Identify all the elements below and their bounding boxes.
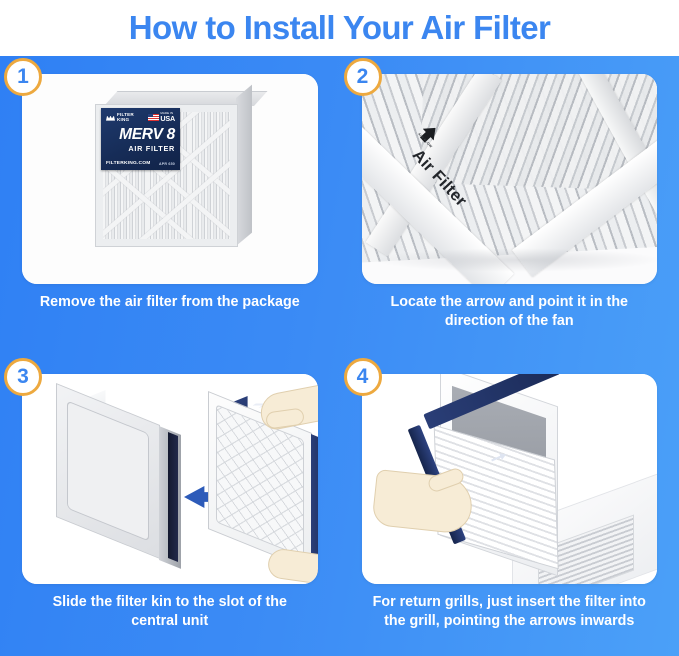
- step-1-card: FILTERKING MADE IN USA: [22, 74, 318, 284]
- filter-side-face: [236, 85, 252, 246]
- step-2-caption: Locate the arrow and point it in the dir…: [362, 293, 658, 331]
- us-flag-icon: [148, 114, 159, 121]
- steps-grid: 1: [0, 56, 679, 656]
- step-4: 4: [340, 356, 679, 656]
- drop-shadow: [372, 248, 658, 272]
- step-3: 3: [0, 356, 340, 656]
- made-in-usa-lockup: MADE IN USA: [148, 112, 175, 122]
- filter-product-label: FILTERKING MADE IN USA: [101, 108, 180, 170]
- title-band: How to Install Your Air Filter: [0, 0, 679, 56]
- filter-support-wire-vertical: [187, 112, 192, 239]
- filter-slot: [168, 432, 178, 562]
- step-4-badge: 4: [344, 358, 382, 396]
- step-2-image: AIR FLOW Air Filter: [362, 74, 658, 284]
- step-1-badge: 1: [4, 58, 42, 96]
- page-title: How to Install Your Air Filter: [129, 9, 550, 47]
- infographic-root: How to Install Your Air Filter 1: [0, 0, 679, 656]
- step-1: 1: [0, 56, 340, 356]
- brand-lockup: FILTERKING: [106, 112, 134, 122]
- label-header-row: FILTERKING MADE IN USA: [106, 112, 175, 122]
- step-2-badge: 2: [344, 58, 382, 96]
- product-type: AIR FILTER: [106, 144, 175, 153]
- brand-line-2: KING: [117, 117, 129, 122]
- central-unit-housing: [56, 390, 186, 555]
- brand-website: FILTERKING.COM: [106, 161, 151, 166]
- step-1-caption: Remove the air filter from the package: [22, 293, 318, 312]
- step-4-caption: For return grills, just insert the filte…: [362, 593, 658, 631]
- step-3-card: [22, 374, 318, 584]
- label-footer-row: FILTERKING.COM APR 650: [106, 161, 175, 166]
- step-3-image: [22, 374, 318, 584]
- step-1-image: FILTERKING MADE IN USA: [22, 74, 318, 284]
- merv-rating: MERV 8: [106, 127, 175, 143]
- made-in-usa-text: MADE IN USA: [160, 112, 175, 122]
- step-4-card: [362, 374, 658, 584]
- air-filter-product-photo: FILTERKING MADE IN USA: [90, 91, 263, 253]
- hand-lower: [266, 547, 317, 584]
- step-3-badge: 3: [4, 358, 42, 396]
- crown-icon: [106, 114, 115, 121]
- country-label: USA: [160, 115, 175, 122]
- step-2: 2 AIR FLOW Air Filter Locate the arrow a…: [340, 56, 679, 356]
- apr-rating: APR 650: [159, 162, 175, 166]
- step-3-caption: Slide the filter kin to the slot of the …: [22, 593, 318, 631]
- brand-name: FILTERKING: [117, 112, 134, 122]
- step-4-image: [362, 374, 658, 584]
- filter-mesh: [216, 404, 304, 558]
- unit-front-face: [56, 383, 160, 559]
- unit-inner-panel: [67, 400, 149, 541]
- step-2-card: AIR FLOW Air Filter: [362, 74, 658, 284]
